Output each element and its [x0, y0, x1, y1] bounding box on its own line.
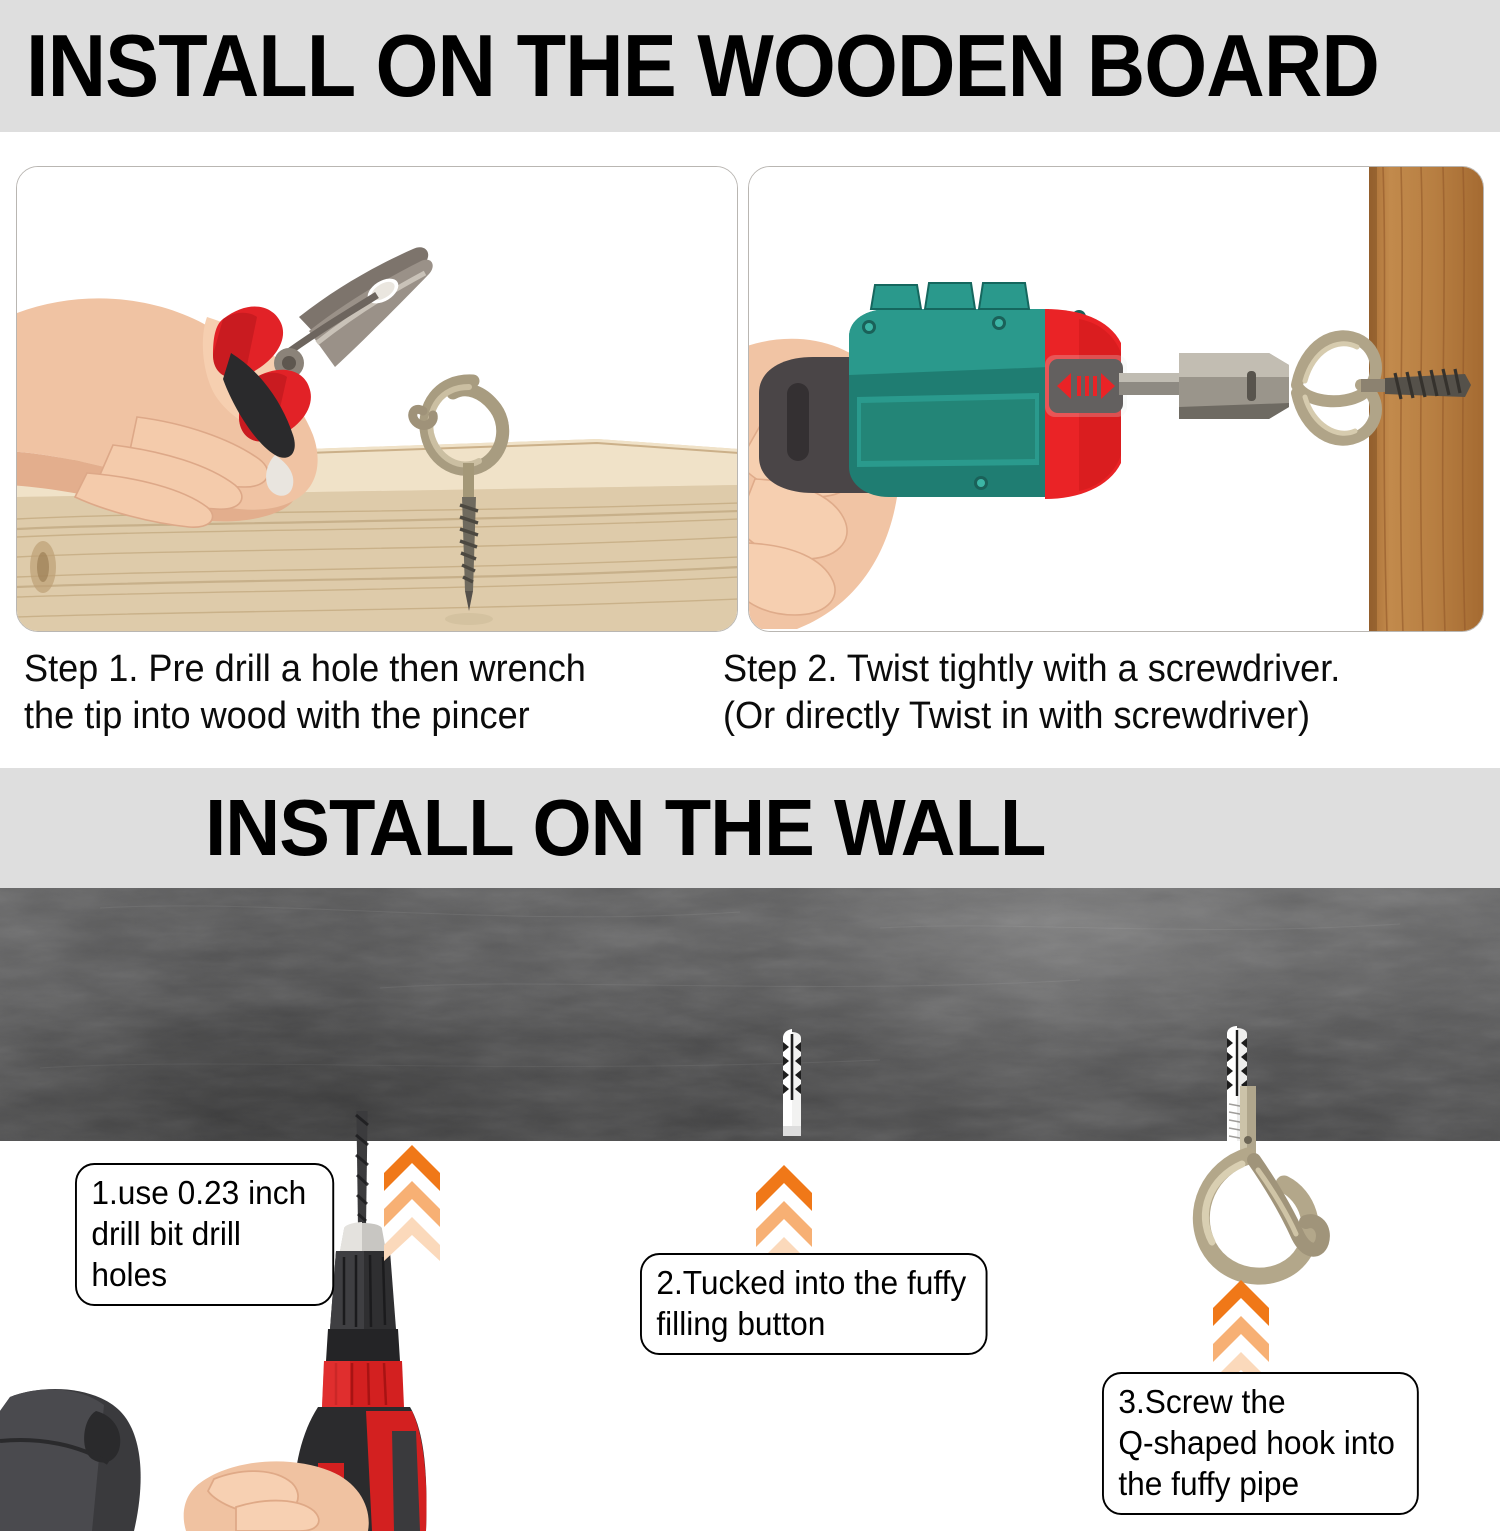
- callout-step-1: 1.use 0.23 inch drill bit drill holes: [75, 1163, 334, 1306]
- drill-bit: [356, 1111, 368, 1229]
- screwdriver-into-wood-illustration: [749, 167, 1484, 632]
- callout-step-2: 2.Tucked into the fuffy filling button: [640, 1253, 988, 1355]
- wood-board-vertical: [1369, 167, 1484, 632]
- step-1-caption: Step 1. Pre drill a hole then wrench the…: [24, 646, 689, 740]
- step-2-caption: Step 2. Twist tightly with a screwdriver…: [723, 646, 1455, 740]
- step-1-photo: [16, 166, 738, 632]
- section-title-wooden-board: INSTALL ON THE WOODEN BOARD: [26, 22, 1379, 110]
- callout-step-3: 3.Screw the Q-shaped hook into the fuffy…: [1102, 1372, 1419, 1515]
- section-banner-wall: INSTALL ON THE WALL: [0, 768, 1500, 888]
- pliers-on-board-illustration: [17, 167, 738, 632]
- instruction-infographic: INSTALL ON THE WOODEN BOARD: [0, 0, 1500, 1500]
- step-2-photo: [748, 166, 1484, 632]
- section-title-wall: INSTALL ON THE WALL: [205, 788, 1045, 868]
- drill-battery-pack: [0, 1389, 141, 1531]
- section-banner-wooden-board: INSTALL ON THE WOODEN BOARD: [0, 0, 1500, 132]
- direction-switch: [1045, 355, 1127, 417]
- chevron-arrows-step-1: [381, 1143, 443, 1263]
- wall-anchor-plug: [772, 1026, 812, 1141]
- step-photo-row: [0, 166, 1500, 632]
